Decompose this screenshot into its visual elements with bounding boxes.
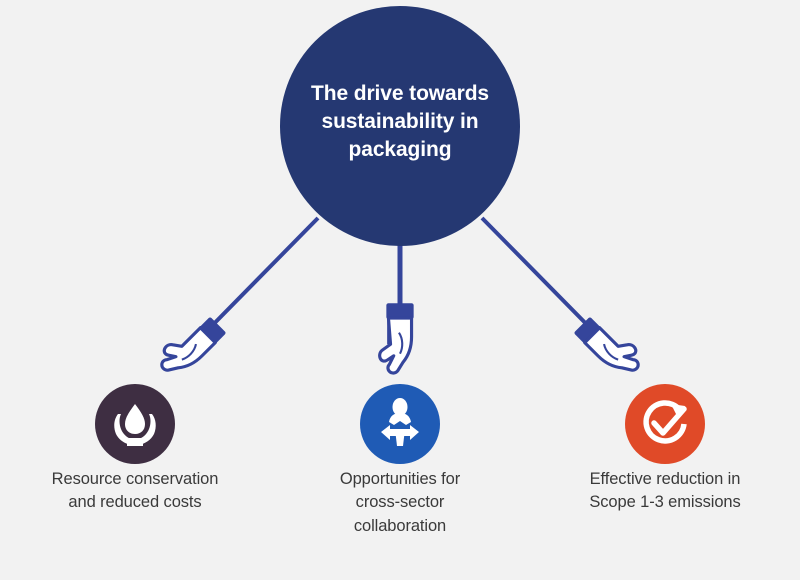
node-label-resource-conservation: Resource conservation and reduced costs bbox=[15, 468, 255, 515]
node-label-line-3: collaboration bbox=[300, 515, 500, 538]
node-label-line-1: Resource conservation bbox=[15, 468, 255, 491]
node-label-line-1: Opportunities for bbox=[300, 468, 500, 491]
pointing-hand-icon-center bbox=[380, 303, 414, 373]
node-circle-cross-sector-collaboration[interactable] bbox=[360, 384, 440, 464]
sustainability-infographic: The drive towards sustainability in pack… bbox=[0, 0, 800, 580]
node-label-cross-sector-collaboration: Opportunities for cross-sector collabora… bbox=[300, 468, 500, 538]
node-label-line-1: Effective reduction in bbox=[545, 468, 785, 491]
node-circle-scope-emissions-reduction[interactable] bbox=[625, 384, 705, 464]
node-circle-resource-conservation[interactable] bbox=[95, 384, 175, 464]
node-label-line-2: Scope 1-3 emissions bbox=[545, 491, 785, 514]
node-label-line-2: cross-sector bbox=[300, 491, 500, 514]
node-label-line-2: and reduced costs bbox=[15, 491, 255, 514]
node-label-scope-emissions-reduction: Effective reduction in Scope 1-3 emissio… bbox=[545, 468, 785, 515]
central-concept-circle bbox=[280, 6, 520, 246]
